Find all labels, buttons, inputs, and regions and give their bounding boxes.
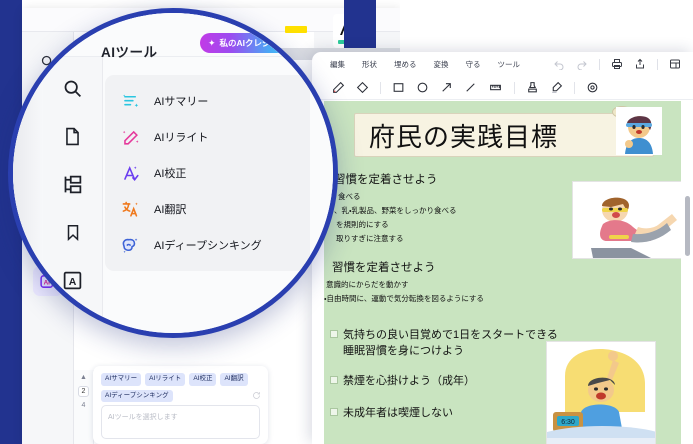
ai-tool-proofread-label: AI校正 xyxy=(154,165,186,181)
chip-ai-rewrite[interactable]: AIリライト xyxy=(145,373,185,386)
page-title: 府民の実践目標 xyxy=(355,117,558,154)
ai-panel-title: AIツール xyxy=(101,41,158,61)
bullet-1-line-2: 睡眠習慣を身につけよう xyxy=(343,343,558,359)
menu-item-fill[interactable]: 埋める xyxy=(394,59,417,70)
document-window: 編集 形状 埋める 変換 守る ツール xyxy=(312,52,693,444)
wakeup-illustration: 6:30 xyxy=(546,341,656,444)
screenshot-root: A AI A ▲ 2 4 AIサマリー AIリライト AI校正 AI翻訳 xyxy=(0,0,693,444)
menu-item-tools[interactable]: ツール xyxy=(498,59,521,70)
ai-rewrite-icon xyxy=(120,127,140,147)
ai-tool-deepthinking-label: AIディープシンキング xyxy=(154,237,262,253)
ai-tool-deepthinking[interactable]: AIディープシンキング xyxy=(105,227,310,263)
share-icon[interactable] xyxy=(634,58,646,70)
menu-item-protect[interactable]: 守る xyxy=(466,59,481,70)
menu-item-convert[interactable]: 変換 xyxy=(434,59,449,70)
page-thumbnail-strip[interactable]: ▲ 2 4 xyxy=(74,370,94,444)
ellipse-icon[interactable] xyxy=(416,81,429,94)
section1-heading: 習慣を定着させよう xyxy=(334,171,438,187)
section2-line-2: ・自由時間に、運動で気分転換を図るようにする xyxy=(324,293,484,304)
ai-tool-translate[interactable]: AI翻訳 xyxy=(105,191,310,227)
toolbar-divider-2 xyxy=(657,59,658,70)
mag-sidebar-item-text[interactable]: A xyxy=(56,263,90,297)
svg-text:AI: AI xyxy=(67,324,76,334)
document-page-area: 府民の実践目標 習慣を定着させよう xyxy=(312,101,693,444)
toolbar-divider xyxy=(599,59,600,70)
document-toolbar xyxy=(312,76,693,100)
sparkle-icon: ✦ xyxy=(208,38,216,49)
thumb-scroll-up[interactable]: ▲ xyxy=(80,374,87,381)
layout-icon[interactable] xyxy=(669,58,681,70)
ai-deepthinking-icon xyxy=(120,235,140,255)
highlighter-icon[interactable] xyxy=(550,81,563,94)
ruler-icon[interactable] xyxy=(488,81,503,94)
bullet-square-icon-3 xyxy=(330,408,338,416)
ai-proofread-icon xyxy=(120,163,140,183)
pen-icon[interactable] xyxy=(332,81,345,94)
magnifier-content: A AI AIツール ✦ 私のAIクレジット AIサマリー xyxy=(13,13,338,338)
ai-tool-translate-label: AI翻訳 xyxy=(154,201,186,217)
magnifier-left-edge xyxy=(13,13,43,338)
top-navy-block xyxy=(344,0,376,48)
mag-sidebar-item-search[interactable] xyxy=(56,71,90,105)
ai-tool-rewrite-label: AIリライト xyxy=(154,129,208,145)
my-ai-credit-button[interactable]: ✦ 私のAIクレジット xyxy=(200,33,296,53)
vertical-scrollbar[interactable] xyxy=(681,101,693,444)
ai-translate-icon xyxy=(120,199,140,219)
tool-divider-3 xyxy=(574,82,575,94)
svg-text:A: A xyxy=(69,275,77,287)
document-menubar: 編集 形状 埋める 変換 守る ツール xyxy=(312,52,693,76)
ai-chip-card: AIサマリー AIリライト AI校正 AI翻訳 AIディープシンキング AIツー… xyxy=(93,366,268,444)
ai-tool-rewrite[interactable]: AIリライト xyxy=(105,119,310,155)
my-ai-credit-label: 私のAIクレジット xyxy=(220,37,288,49)
magnified-sidebar-rail: A AI xyxy=(43,57,103,338)
page-sheet: 府民の実践目標 習慣を定着させよう xyxy=(324,101,693,444)
page-title-banner: 府民の実践目標 xyxy=(354,113,654,157)
chip-ai-summary[interactable]: AIサマリー xyxy=(101,373,141,386)
bullet-2: 禁煙を心掛けよう（成年） xyxy=(330,373,475,389)
section2-line-1: 意識的にからだを動かす xyxy=(326,279,409,290)
scrollbar-thumb[interactable] xyxy=(685,196,690,256)
ai-tool-list: AIサマリー AIリライト AI校正 xyxy=(105,75,310,271)
mascot-illustration xyxy=(616,107,662,155)
section1-line-2: 、乳・乳製品、野菜をしっかり食べる xyxy=(334,205,457,216)
chip-ai-deepthinking[interactable]: AIディープシンキング xyxy=(101,390,173,403)
section2-heading: 習慣を定着させよう xyxy=(332,259,436,275)
mag-sidebar-item-document[interactable] xyxy=(56,119,90,153)
eraser-icon[interactable] xyxy=(356,81,369,94)
refresh-icon[interactable] xyxy=(252,391,261,400)
section1-line-1: 食べる xyxy=(338,191,361,202)
menu-item-shape[interactable]: 形状 xyxy=(362,59,377,70)
magnifier-lens: A AI AIツール ✦ 私のAIクレジット AIサマリー xyxy=(8,8,338,338)
chip-ai-proofread[interactable]: AI校正 xyxy=(189,373,216,386)
print-icon[interactable] xyxy=(611,58,623,70)
tool-divider-1 xyxy=(380,82,381,94)
undo-icon[interactable] xyxy=(553,58,565,70)
ai-tool-proofread[interactable]: AI校正 xyxy=(105,155,310,191)
mag-sidebar-item-outline[interactable] xyxy=(56,167,90,201)
bullet-1-text-group: 気持ちの良い目覚めで1日をスタートできる 睡眠習慣を身につけよう xyxy=(343,327,558,359)
ai-tool-summary[interactable]: AIサマリー xyxy=(105,83,310,119)
bullet-3: 未成年者は喫煙しない xyxy=(330,405,453,421)
target-icon[interactable] xyxy=(586,81,599,94)
chip-ai-translate[interactable]: AI翻訳 xyxy=(220,373,247,386)
rectangle-icon[interactable] xyxy=(392,81,405,94)
mag-sidebar-item-bookmark[interactable] xyxy=(56,215,90,249)
document-action-group xyxy=(553,58,693,70)
ai-tool-summary-label: AIサマリー xyxy=(154,93,208,109)
ai-summary-icon xyxy=(120,91,140,111)
redo-icon[interactable] xyxy=(576,58,588,70)
thumb-page-4[interactable]: 4 xyxy=(82,402,86,409)
tool-divider-2 xyxy=(514,82,515,94)
bullet-square-icon-2 xyxy=(330,376,338,384)
exercise-illustration xyxy=(572,181,690,259)
bullet-3-text: 未成年者は喫煙しない xyxy=(343,405,453,421)
line-icon[interactable] xyxy=(464,81,477,94)
svg-text:6:30: 6:30 xyxy=(561,419,575,426)
bullet-1-line-1: 気持ちの良い目覚めで1日をスタートできる xyxy=(343,327,558,343)
stamp-icon[interactable] xyxy=(526,81,539,94)
thumb-page-2[interactable]: 2 xyxy=(78,386,90,397)
section1-line-4: 取りすぎに注意する xyxy=(336,233,404,244)
ai-tool-input[interactable]: AIツールを選択します xyxy=(101,405,260,439)
ai-chip-list: AIサマリー AIリライト AI校正 AI翻訳 AIディープシンキング xyxy=(101,373,251,402)
section1-line-3: を規則的にする xyxy=(336,219,389,230)
bullet-2-text: 禁煙を心掛けよう（成年） xyxy=(343,373,475,389)
arrow-icon[interactable] xyxy=(440,81,453,94)
